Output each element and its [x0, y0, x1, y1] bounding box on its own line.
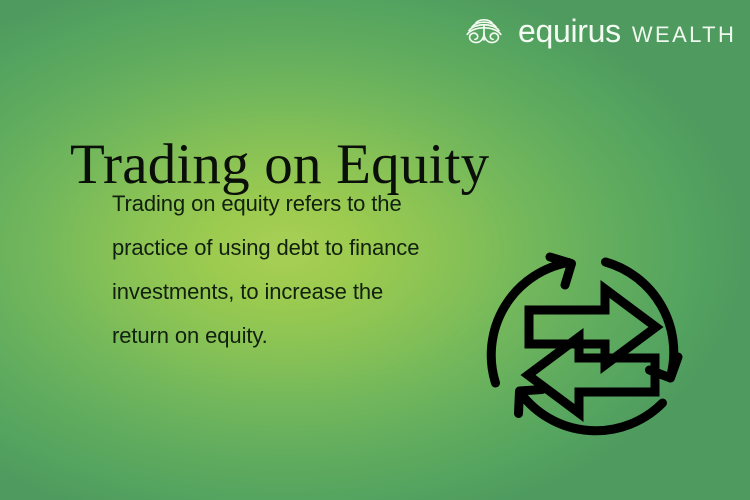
body-line: return on equity. [112, 314, 507, 358]
brand-lockup: equirus WEALTH [462, 11, 736, 51]
body-line: investments, to increase the [112, 270, 507, 314]
brand-subname: WEALTH [632, 24, 736, 46]
brand-name: equirus [518, 15, 621, 47]
swap-arrows-icon [528, 289, 656, 413]
body-paragraph: Trading on equity refers to the practice… [112, 182, 507, 358]
exchange-cycle-icon [484, 243, 700, 459]
poster-canvas: equirus WEALTH Trading on Equity Trading… [0, 0, 750, 500]
brand-wordmark: equirus WEALTH [518, 15, 736, 47]
body-line: practice of using debt to finance [112, 226, 507, 270]
body-line: Trading on equity refers to the [112, 182, 507, 226]
equirus-tree-mark-icon [462, 11, 506, 51]
